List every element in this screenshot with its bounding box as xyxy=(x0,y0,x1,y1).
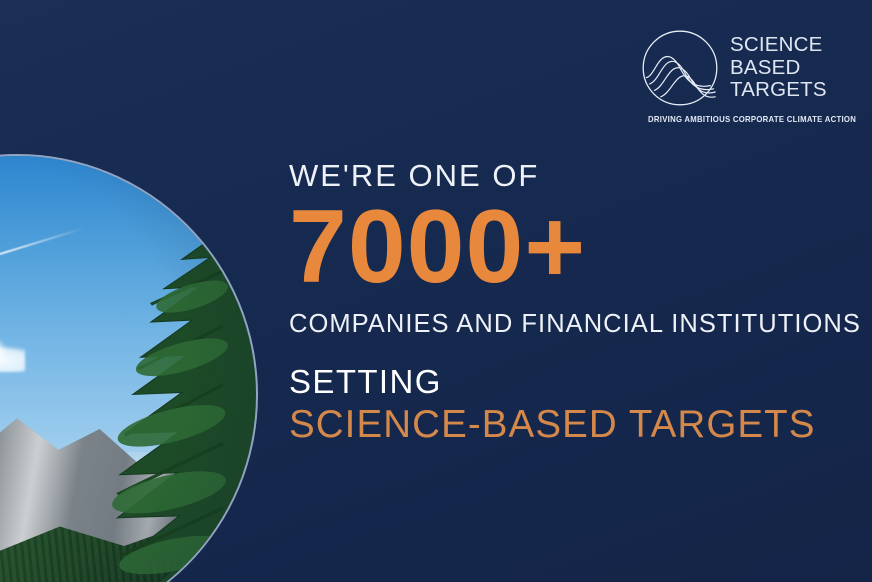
conifer-tree-icon xyxy=(27,232,256,582)
wordmark-line-2: BASED xyxy=(730,57,827,80)
wordmark-line-1: SCIENCE xyxy=(730,34,827,57)
sbt-wordmark: SCIENCE BASED TARGETS xyxy=(730,34,827,103)
logo-tagline: DRIVING AMBITIOUS CORPORATE CLIMATE ACTI… xyxy=(648,115,840,124)
cloud-icon xyxy=(0,338,25,372)
headline-line-companies: COMPANIES AND FINANCIAL INSTITUTIONS xyxy=(289,312,849,338)
sbt-promo-poster: SCIENCE BASED TARGETS DRIVING AMBITIOUS … xyxy=(0,0,872,582)
logo-row: SCIENCE BASED TARGETS xyxy=(640,28,840,108)
headline-count: 7000+ xyxy=(289,200,849,296)
headline-block: WE'RE ONE OF 7000+ COMPANIES AND FINANCI… xyxy=(289,160,849,445)
mountain-landscape-circle-photo xyxy=(0,156,256,582)
headline-line-were-one-of: WE'RE ONE OF xyxy=(289,160,849,191)
headline-line-setting: SETTING xyxy=(289,365,849,398)
sbt-logo: SCIENCE BASED TARGETS DRIVING AMBITIOUS … xyxy=(640,28,840,124)
photo-base xyxy=(0,156,256,582)
headline-line-science-based-targets: SCIENCE-BASED TARGETS xyxy=(289,406,849,445)
wordmark-line-3: TARGETS xyxy=(730,79,827,102)
sbt-circle-wave-logo-icon xyxy=(640,28,720,108)
